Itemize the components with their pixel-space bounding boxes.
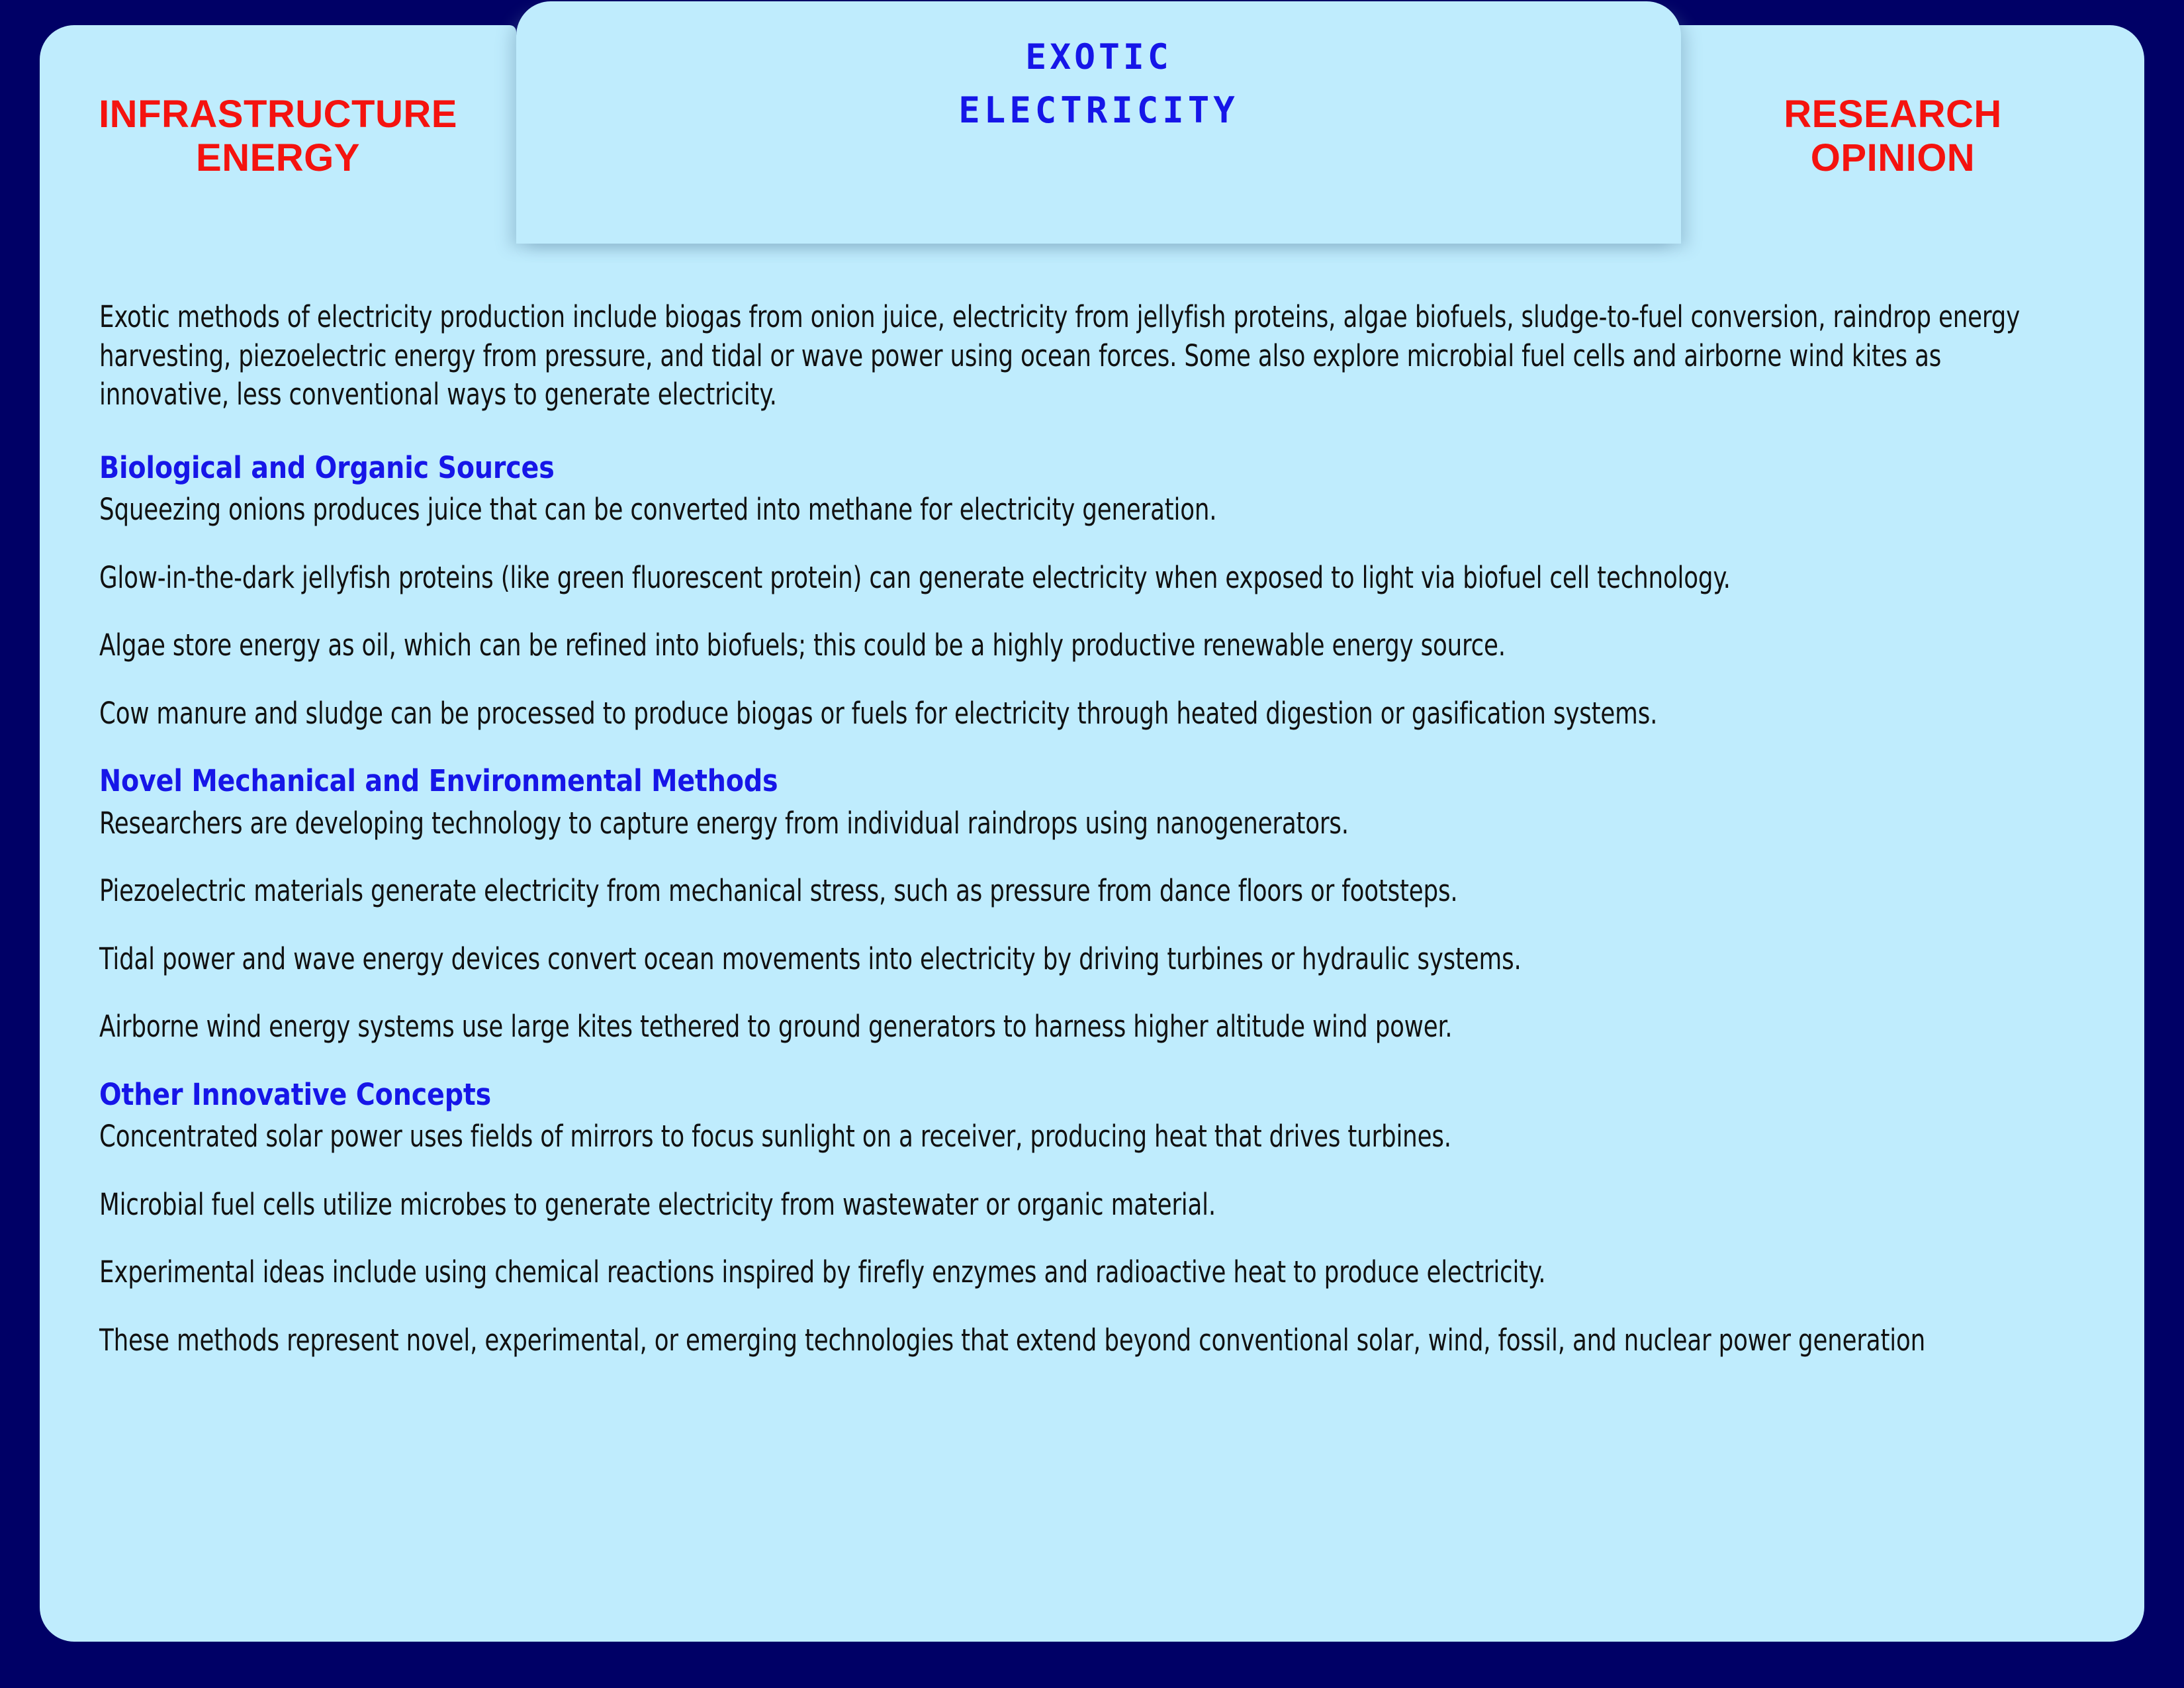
section-paragraph: Squeezing onions produces juice that can… [99,491,2067,530]
page-title: Exotic [516,24,1681,79]
section-paragraph: Researchers are developing technology to… [99,804,2067,843]
page-root: INFRASTRUCTURE ENERGY Exotic electricity… [0,0,2184,1688]
section-paragraph: Concentrated solar power uses fields of … [99,1117,2067,1156]
section-paragraph: These methods represent novel, experimen… [99,1321,2067,1360]
section-paragraph: Piezoelectric materials generate electri… [99,872,2067,911]
header-label-infrastructure-energy: INFRASTRUCTURE ENERGY [40,93,516,180]
header-label-research-opinion: RESEARCH OPINION [1641,93,2144,180]
section-paragraph: Microbial fuel cells utilize microbes to… [99,1186,2067,1225]
section-paragraph: Tidal power and wave energy devices conv… [99,940,2067,979]
section-paragraph: Airborne wind energy systems use large k… [99,1008,2067,1047]
section-paragraph: Cow manure and sludge can be processed t… [99,694,2067,733]
article-section: Novel Mechanical and Environmental Metho… [99,762,2078,1047]
article-section: Other Innovative Concepts Concentrated s… [99,1076,2078,1360]
header-title-block: Exotic electricity [516,24,1681,131]
section-paragraph: Algae store energy as oil, which can be … [99,626,2067,665]
lead-paragraph: Exotic methods of electricity production… [99,298,2067,414]
section-paragraph: Experimental ideas include using chemica… [99,1253,2067,1292]
article-section: Biological and Organic Sources Squeezing… [99,449,2078,733]
section-paragraph: Glow-in-the-dark jellyfish proteins (lik… [99,559,2067,598]
section-heading: Biological and Organic Sources [99,449,2067,487]
page-subtitle: electricity [516,90,1681,131]
section-heading: Novel Mechanical and Environmental Metho… [99,762,2067,800]
article-body: Exotic methods of electricity production… [99,298,2078,1389]
section-heading: Other Innovative Concepts [99,1076,2067,1114]
